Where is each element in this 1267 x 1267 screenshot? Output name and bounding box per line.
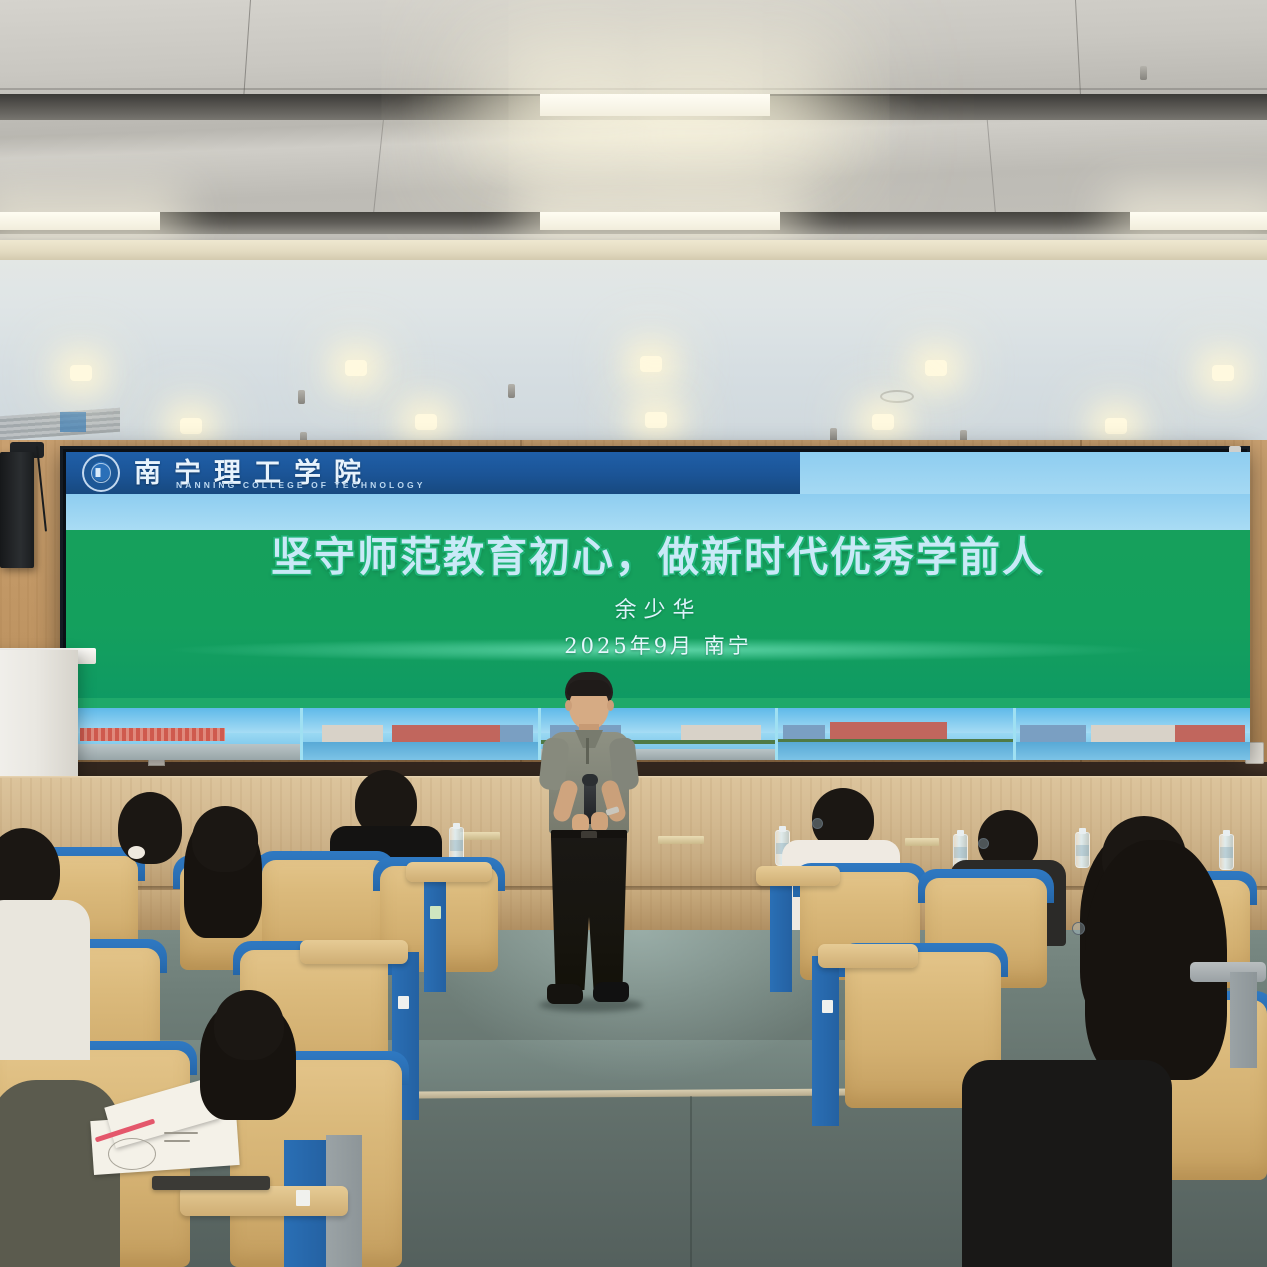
folding-desk-tray[interactable]	[152, 1176, 270, 1190]
audience-hair	[1085, 840, 1227, 1080]
desk-nameplate	[658, 836, 704, 844]
ceiling-downlight	[180, 418, 202, 434]
seal-emblem-icon	[96, 468, 107, 477]
presenter-shoe	[547, 984, 583, 1004]
seat-side-panel	[424, 872, 446, 992]
desk-nameplate	[905, 838, 939, 846]
seat-side-panel	[770, 876, 792, 992]
floor-tile-seam	[690, 1096, 692, 1267]
slide-header-fill	[800, 452, 1250, 494]
ceiling-downlight	[70, 365, 92, 381]
slide-blue-band	[66, 494, 1250, 530]
ceiling-downlight	[345, 360, 367, 376]
campus-photo	[303, 708, 537, 760]
audience-torso	[0, 900, 90, 1060]
seat-armrest[interactable]	[406, 862, 492, 882]
audience-head	[192, 806, 258, 872]
paper-diagram-icon	[108, 1138, 156, 1170]
sprinkler-head-icon	[508, 384, 515, 398]
seat-number-tag	[430, 906, 441, 919]
campus-photo	[66, 708, 300, 760]
presenter-ear	[607, 700, 614, 711]
seat-armrest[interactable]	[818, 944, 918, 968]
ceiling-downlight	[415, 414, 437, 430]
water-bottle[interactable]	[1219, 834, 1234, 870]
linear-ceiling-light	[0, 212, 160, 230]
seat-side-panel	[1230, 972, 1257, 1068]
linear-ceiling-light	[540, 212, 780, 230]
seat-armrest[interactable]	[180, 1186, 348, 1216]
presenter-hairline	[567, 680, 611, 696]
ceiling-downlight	[1212, 365, 1234, 381]
university-seal-icon	[82, 454, 120, 492]
paper-text-line	[164, 1132, 198, 1134]
ceiling-downlight	[640, 356, 662, 372]
vent-badge-icon	[60, 412, 86, 432]
paper-text-line	[164, 1140, 190, 1142]
ceiling-downlight	[872, 414, 894, 430]
presenter-trousers	[551, 838, 627, 990]
seat-number-tag	[296, 1190, 310, 1206]
ceiling-seam	[0, 88, 1267, 90]
upper-wall	[0, 260, 1267, 442]
sprinkler-head-icon	[298, 390, 305, 404]
slide-author: 余少华	[66, 592, 1250, 624]
slide-separator	[66, 698, 1250, 708]
ceiling-downlight	[925, 360, 947, 376]
institution-name-en: NANNING COLLEGE OF TECHNOLOGY	[176, 480, 426, 490]
seat-armrest[interactable]	[756, 866, 840, 886]
slide-header-bar: 南宁理工学院 NANNING COLLEGE OF TECHNOLOGY	[66, 452, 800, 494]
microphone-head-icon	[582, 774, 598, 786]
ceiling-ring-fixture	[880, 390, 914, 403]
slide-canvas: 南宁理工学院 NANNING COLLEGE OF TECHNOLOGY 坚守师…	[66, 452, 1250, 760]
presenter-hand	[591, 812, 608, 832]
glasses-icon	[812, 818, 823, 829]
presenter-placket	[586, 738, 589, 764]
led-display-screen[interactable]: 南宁理工学院 NANNING COLLEGE OF TECHNOLOGY 坚守师…	[60, 446, 1250, 760]
wall-speaker	[0, 452, 34, 568]
slide-date-location: 2025年9月 南宁	[66, 630, 1250, 660]
presenter-ear	[565, 700, 572, 711]
campus-photo	[778, 708, 1012, 760]
seat-number-tag	[822, 1000, 833, 1013]
campus-photo-strip	[66, 708, 1250, 760]
linear-ceiling-light	[540, 94, 770, 116]
ceiling-soffit-beam	[0, 240, 1267, 262]
audience-head	[214, 990, 284, 1060]
slide-title: 坚守师范教育初心，做新时代优秀学前人	[66, 536, 1250, 579]
desk-nameplate	[460, 832, 500, 840]
ceiling-downlight	[1105, 418, 1127, 434]
campus-gate	[80, 728, 225, 742]
presenter	[523, 672, 651, 1032]
seat-number-tag	[398, 996, 409, 1009]
linear-ceiling-light	[1130, 212, 1267, 230]
glasses-icon	[1072, 922, 1085, 935]
audience-torso	[962, 1060, 1172, 1267]
presenter-shoe	[593, 982, 629, 1002]
seat-armrest[interactable]	[300, 940, 408, 964]
water-bottle[interactable]	[1075, 832, 1090, 868]
lecture-hall-photo: 南宁理工学院 NANNING COLLEGE OF TECHNOLOGY 坚守师…	[0, 0, 1267, 1267]
seat-side-panel	[812, 956, 839, 1126]
campus-photo	[1016, 708, 1250, 760]
sprinkler-head-icon	[1140, 66, 1147, 80]
ceiling-downlight	[645, 412, 667, 428]
hair-tie-icon	[128, 846, 145, 859]
glasses-icon	[978, 838, 989, 849]
